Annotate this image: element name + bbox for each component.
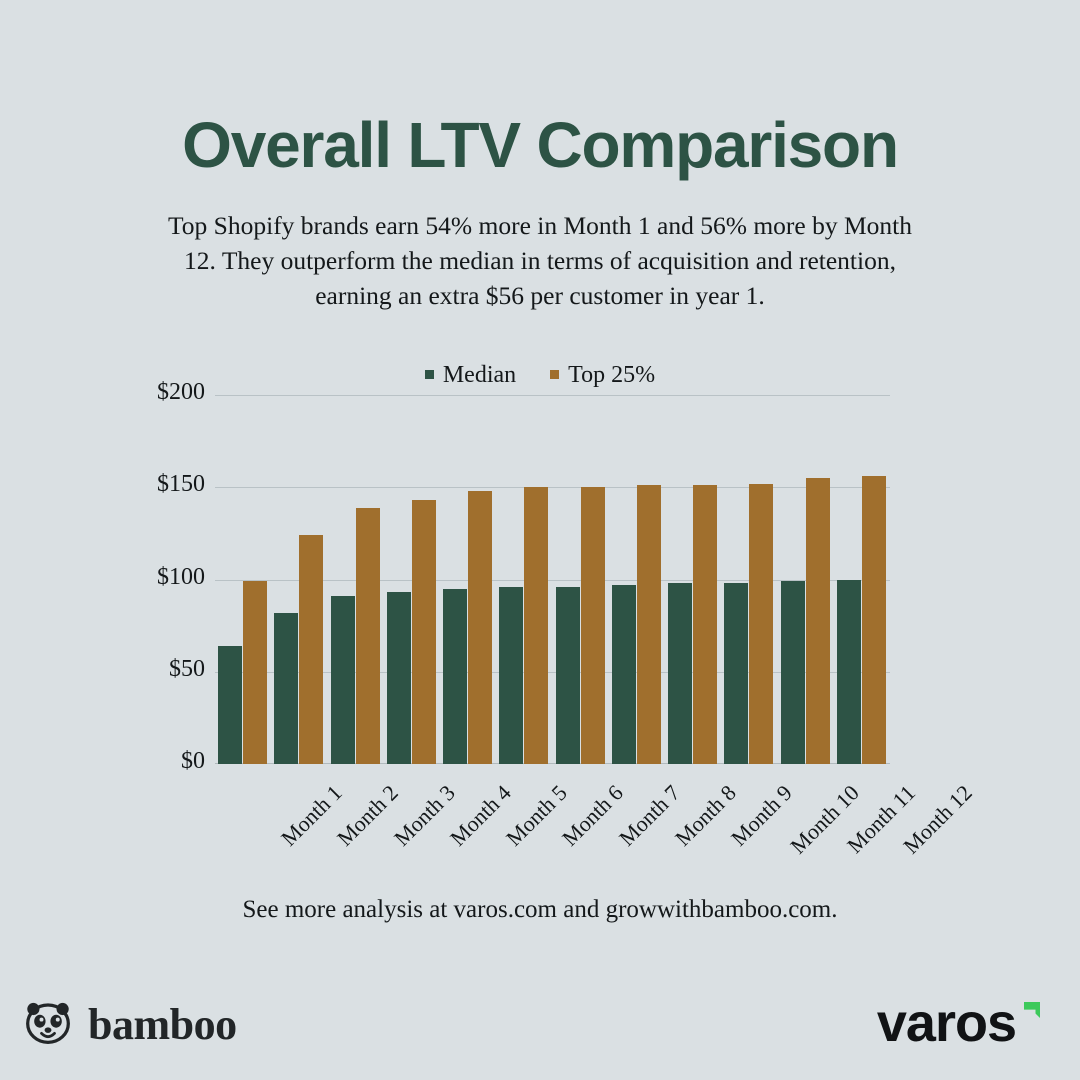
y-axis-label: $150 (115, 471, 205, 498)
bar-top-25--month-9[interactable] (693, 485, 717, 764)
x-axis-label: Month 5 (501, 780, 573, 852)
x-axis-label: Month 1 (276, 780, 348, 852)
bar-top-25--month-5[interactable] (468, 491, 492, 764)
bar-median-month-5[interactable] (443, 589, 467, 764)
bar-top-25--month-6[interactable] (524, 487, 548, 764)
arrow-up-right-icon (1018, 998, 1044, 1029)
bar-median-month-11[interactable] (781, 581, 805, 764)
legend-item-median[interactable]: Median (425, 362, 516, 389)
gridline (215, 487, 890, 488)
legend-swatch-top25 (550, 370, 559, 379)
x-axis-label: Month 9 (726, 780, 798, 852)
bar-median-month-7[interactable] (556, 587, 580, 764)
page-title: Overall LTV Comparison (0, 112, 1080, 180)
bar-top-25--month-7[interactable] (581, 487, 605, 764)
bar-median-month-12[interactable] (837, 580, 861, 765)
gridline (215, 580, 890, 581)
chart-legend: Median Top 25% (0, 362, 1080, 389)
subtitle-text: Top Shopify brands earn 54% more in Mont… (150, 208, 930, 313)
legend-item-top25[interactable]: Top 25% (550, 362, 655, 389)
bar-median-month-1[interactable] (218, 646, 242, 764)
y-axis-label: $50 (115, 656, 205, 683)
bar-top-25--month-2[interactable] (299, 535, 323, 764)
varos-wordmark: varos (877, 996, 1016, 1050)
y-axis-label: $0 (115, 748, 205, 775)
bar-top-25--month-11[interactable] (806, 478, 830, 764)
footnote-text: See more analysis at varos.com and groww… (0, 896, 1080, 924)
bar-median-month-2[interactable] (274, 613, 298, 764)
bar-median-month-9[interactable] (668, 583, 692, 764)
x-axis-label: Month 12 (898, 780, 977, 859)
bar-median-month-3[interactable] (331, 596, 355, 764)
x-axis-label: Month 4 (445, 780, 517, 852)
varos-logo[interactable]: varos (877, 996, 1044, 1050)
bar-top-25--month-1[interactable] (243, 581, 267, 764)
y-axis-label: $100 (115, 564, 205, 591)
x-axis-label: Month 10 (785, 780, 864, 859)
bar-median-month-6[interactable] (499, 587, 523, 764)
x-axis-label: Month 3 (389, 780, 461, 852)
x-axis-baseline (215, 763, 890, 764)
bamboo-logo[interactable]: bamboo (22, 996, 237, 1053)
bar-median-month-10[interactable] (724, 583, 748, 764)
legend-label-median: Median (443, 362, 516, 389)
bar-top-25--month-4[interactable] (412, 500, 436, 764)
plot-area (215, 395, 890, 764)
gridline (215, 395, 890, 396)
x-axis-label: Month 7 (614, 780, 686, 852)
x-axis-label: Month 11 (842, 780, 921, 859)
legend-swatch-median (425, 370, 434, 379)
legend-label-top25: Top 25% (568, 362, 655, 389)
bar-top-25--month-3[interactable] (356, 508, 380, 764)
bamboo-wordmark: bamboo (88, 999, 237, 1050)
bar-median-month-8[interactable] (612, 585, 636, 764)
x-axis-label: Month 8 (670, 780, 742, 852)
panda-face-icon (22, 996, 74, 1053)
x-axis-label: Month 6 (557, 780, 629, 852)
bar-top-25--month-8[interactable] (637, 485, 661, 764)
bar-median-month-4[interactable] (387, 592, 411, 764)
bar-top-25--month-10[interactable] (749, 484, 773, 764)
infographic-canvas: Overall LTV Comparison Top Shopify brand… (0, 0, 1080, 1080)
gridline (215, 672, 890, 673)
bar-top-25--month-12[interactable] (862, 476, 886, 764)
x-axis-label: Month 2 (332, 780, 404, 852)
